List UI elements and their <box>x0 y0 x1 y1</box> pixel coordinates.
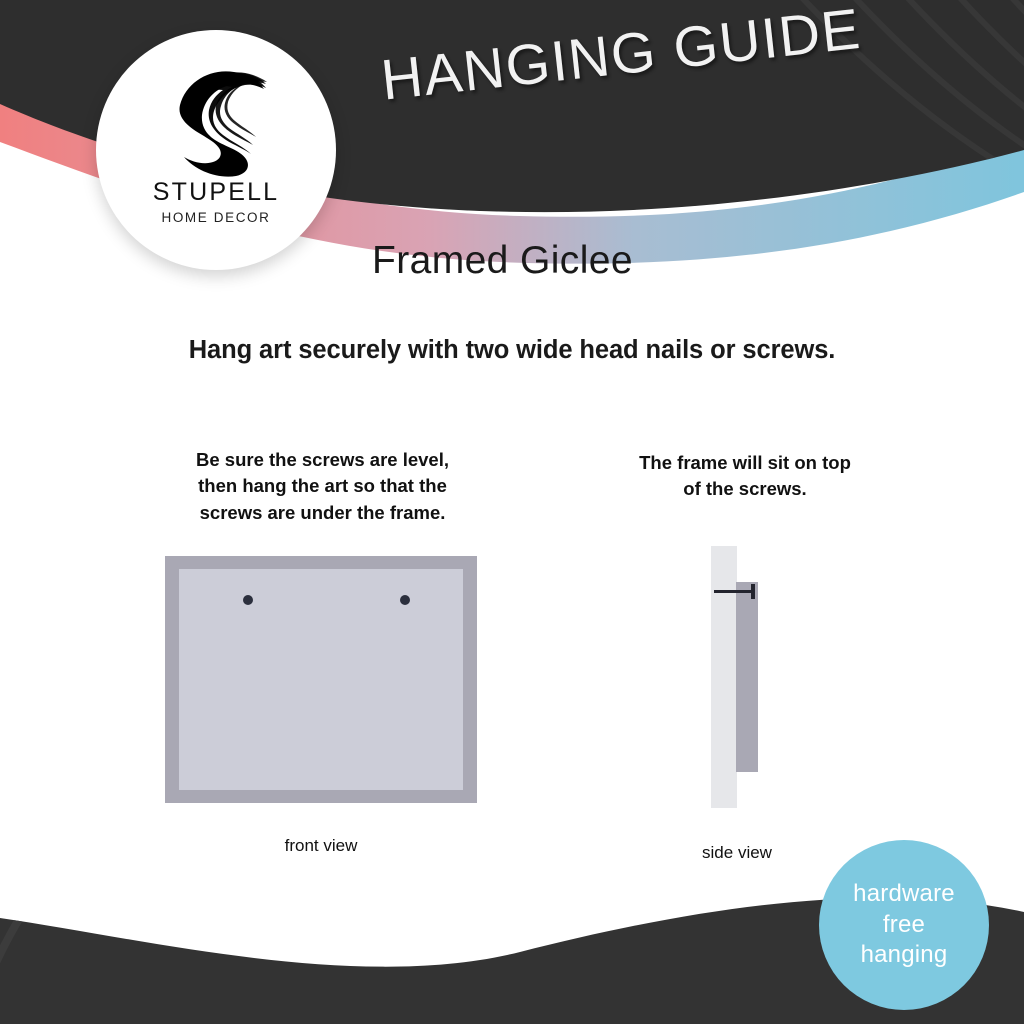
brand-logo-badge: STUPELL HOME DECOR <box>96 30 336 270</box>
front-view-label: front view <box>165 836 477 856</box>
screw-dot-right-icon <box>400 595 410 605</box>
main-instruction-text: Hang art securely with two wide head nai… <box>0 336 1024 365</box>
logo-subwordmark: HOME DECOR <box>161 211 270 225</box>
side-view-frame-strip <box>736 582 758 772</box>
stupell-swoosh-logo-icon <box>156 58 276 178</box>
side-view-label: side view <box>660 843 814 863</box>
badge-line: free <box>883 910 925 941</box>
caption-line: The frame will sit on top <box>600 450 890 476</box>
side-view-caption: The frame will sit on top of the screws. <box>600 450 890 503</box>
logo-wordmark: STUPELL <box>153 180 280 205</box>
nail-shaft-icon <box>714 590 754 593</box>
page-title: HANGING GUIDE <box>378 0 864 114</box>
side-view-frame-diagram <box>705 546 769 808</box>
nail-head-icon <box>751 584 755 599</box>
hardware-free-hanging-badge: hardware free hanging <box>819 840 989 1010</box>
front-view-frame-diagram <box>165 556 477 803</box>
hanging-guide-page: STUPELL HOME DECOR HANGING GUIDE Framed … <box>0 0 1024 1024</box>
side-view-wall-strip <box>711 546 737 808</box>
badge-line: hanging <box>861 940 948 971</box>
caption-line: then hang the art so that the <box>150 473 495 499</box>
caption-line: screws are under the frame. <box>150 500 495 526</box>
badge-line: hardware <box>853 879 955 910</box>
caption-line: of the screws. <box>600 476 890 502</box>
front-view-frame-inner-panel <box>179 569 463 790</box>
product-name: Framed Giclee <box>372 239 633 283</box>
caption-line: Be sure the screws are level, <box>150 447 495 473</box>
front-view-caption: Be sure the screws are level, then hang … <box>150 447 495 526</box>
screw-dot-left-icon <box>243 595 253 605</box>
